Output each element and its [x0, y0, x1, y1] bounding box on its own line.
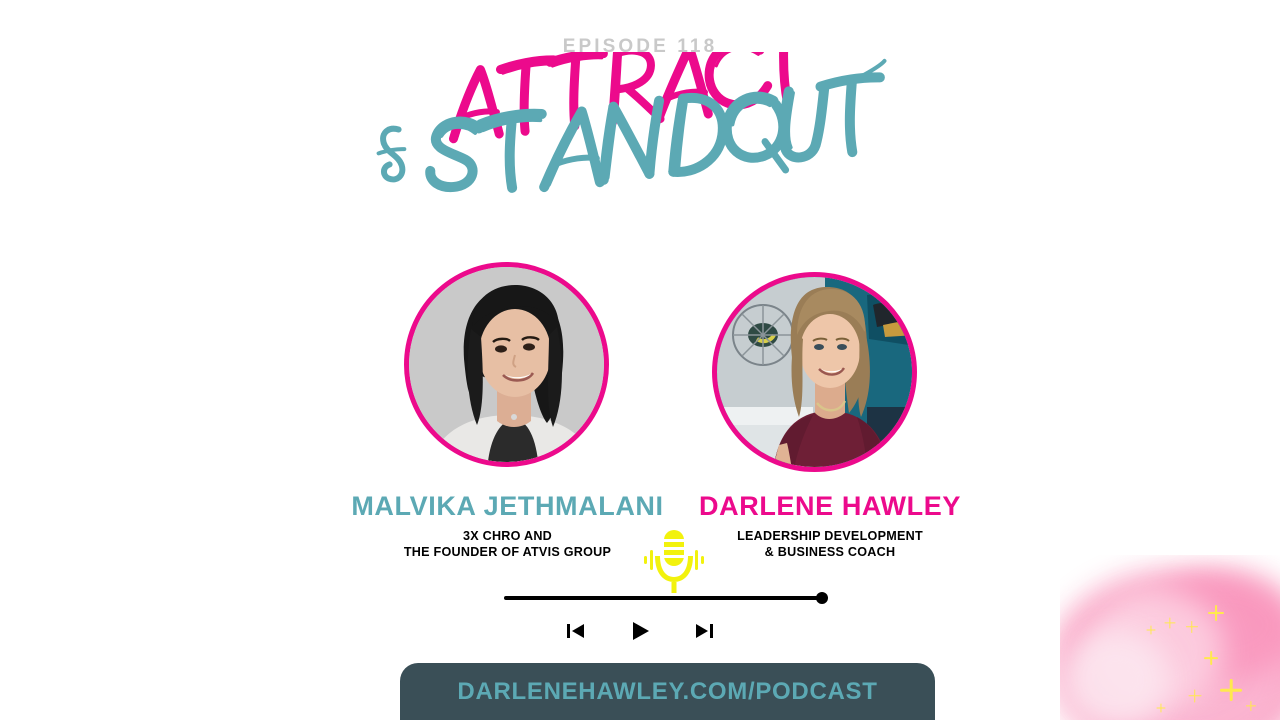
sparkle-icon — [1156, 703, 1165, 712]
guest-role: LEADERSHIP DEVELOPMENT & BUSINESS COACH — [685, 529, 975, 560]
watercolor-blob — [1085, 590, 1225, 710]
progress-track[interactable] — [504, 596, 824, 600]
podcast-url-bar[interactable]: DARLENEHAWLEY.COM/PODCAST — [400, 663, 935, 720]
play-icon[interactable] — [628, 620, 652, 642]
next-track-icon[interactable] — [692, 620, 716, 642]
sparkle-icon — [1220, 679, 1242, 701]
podcast-title-artwork: .brush-pink { fill:none; stroke:#EC0A8C;… — [0, 52, 1280, 222]
guest-name: MALVIKA JETHMALANI — [330, 492, 685, 520]
watercolor-blob — [1060, 630, 1170, 720]
guest-photo-row — [0, 262, 1280, 492]
podcast-url-label[interactable]: DARLENEHAWLEY.COM/PODCAST — [457, 678, 877, 706]
guest-role: 3X CHRO AND THE FOUNDER OF ATVIS GROUP — [330, 529, 685, 560]
guest-block-right: DARLENE HAWLEY LEADERSHIP DEVELOPMENT & … — [685, 492, 975, 560]
player-controls — [0, 620, 1280, 642]
guest-block-left: MALVIKA JETHMALANI 3X CHRO AND THE FOUND… — [330, 492, 685, 560]
darlene-hawley-headshot — [717, 277, 912, 467]
sparkle-icon — [1204, 651, 1218, 665]
watercolor-blob — [1060, 570, 1280, 720]
previous-track-icon[interactable] — [564, 620, 588, 642]
progress-handle[interactable] — [816, 592, 828, 604]
microphone-icon — [642, 528, 706, 594]
progress-bar[interactable] — [504, 594, 824, 602]
avatar — [712, 272, 917, 472]
watercolor-blob — [1100, 590, 1280, 720]
sparkle-icon — [1188, 689, 1201, 702]
sparkle-icon — [1246, 701, 1256, 711]
malvika-jethmalani-headshot — [409, 267, 604, 462]
guest-name: DARLENE HAWLEY — [685, 492, 975, 520]
avatar — [404, 262, 609, 467]
sparkle-icon — [1208, 605, 1224, 621]
